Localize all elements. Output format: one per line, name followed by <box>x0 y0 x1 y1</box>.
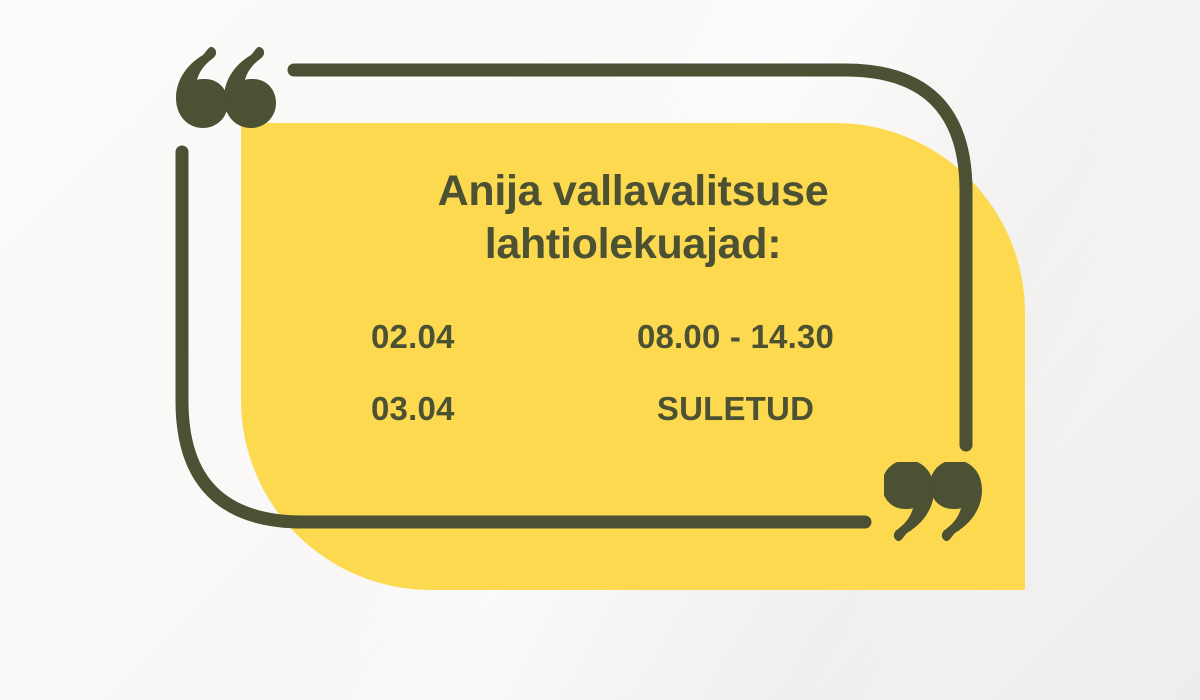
page-title: Anija vallavalitsuselahtiolekuajad: <box>313 123 953 272</box>
title-line-2: lahtiolekuajad: <box>485 220 782 268</box>
list-item: 02.04 08.00 - 14.30 <box>353 318 913 356</box>
schedule-date: 03.04 <box>353 390 568 428</box>
card-content: Anija vallavalitsuselahtiolekuajad: 02.0… <box>241 123 1025 590</box>
opening-hours-list: 02.04 08.00 - 14.30 03.04 SULETUD <box>353 318 913 428</box>
schedule-hours: SULETUD <box>568 390 913 428</box>
list-item: 03.04 SULETUD <box>353 390 913 428</box>
schedule-date: 02.04 <box>353 318 568 356</box>
open-quote-icon <box>172 46 276 132</box>
poster-canvas: Anija vallavalitsuselahtiolekuajad: 02.0… <box>0 0 1200 700</box>
title-line-1: Anija vallavalitsuse <box>438 167 829 215</box>
schedule-hours: 08.00 - 14.30 <box>568 318 913 356</box>
